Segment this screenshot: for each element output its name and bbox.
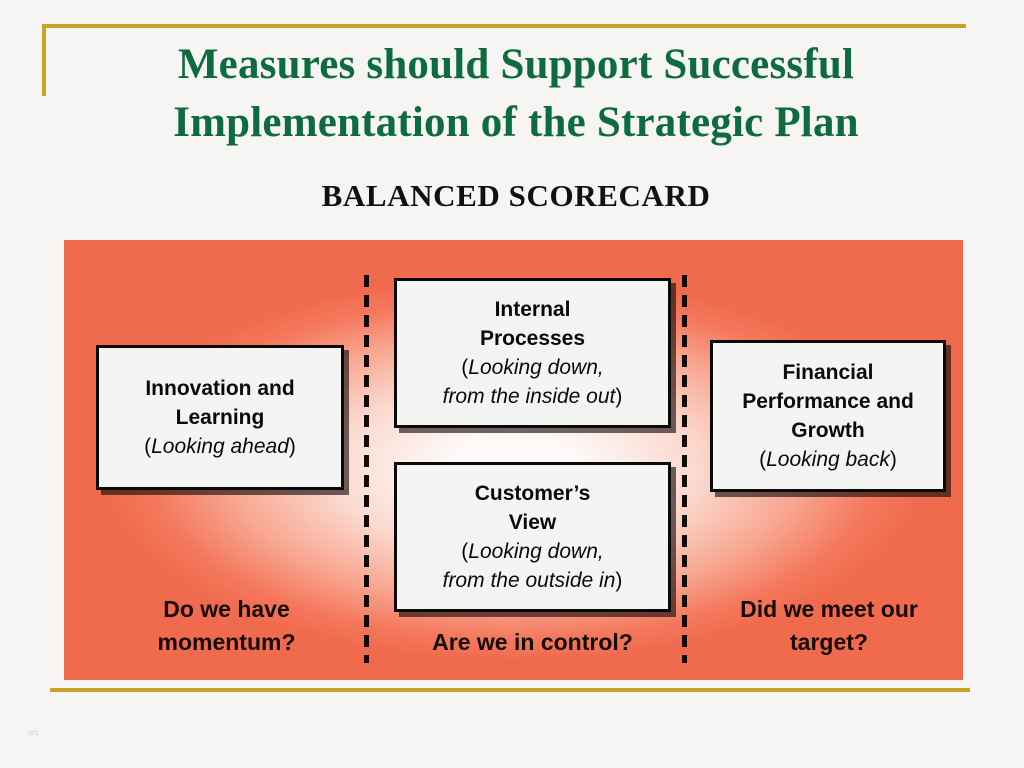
paren-close: ) (289, 435, 296, 458)
corner-artifact: wq (28, 728, 38, 737)
page-title-line-1: Measures should Support Successful (60, 36, 972, 94)
box-customer-heading-line-2: View (509, 508, 556, 537)
paren-close: ) (615, 569, 622, 592)
box-internal-heading-line-1: Internal (495, 295, 571, 324)
box-internal-subtext-line-1: (Looking down, (461, 353, 603, 382)
box-customer-subtext-italic-2: from the outside in (443, 569, 616, 592)
box-financial-heading-line-3: Growth (791, 416, 865, 445)
question-financial: Did we meet our target? (704, 593, 954, 659)
gold-rule-top (42, 24, 966, 28)
paren-close: ) (615, 385, 622, 408)
box-customer-subtext-italic-1: Looking down, (468, 540, 603, 563)
box-customer-subtext-line-1: (Looking down, (461, 537, 603, 566)
box-internal-subtext-italic-1: Looking down, (468, 356, 603, 379)
box-innovation-heading-line-2: Learning (176, 403, 265, 432)
question-financial-line-1: Did we meet our (704, 593, 954, 626)
page-subtitle: BALANCED SCORECARD (60, 178, 972, 214)
page-title: Measures should Support Successful Imple… (60, 36, 972, 152)
box-financial-heading-line-2: Performance and (742, 387, 914, 416)
box-innovation-subtext-italic: Looking ahead (151, 435, 289, 458)
question-innovation: Do we have momentum? (104, 593, 349, 659)
gold-rule-bottom (50, 688, 970, 692)
box-customer-heading-line-1: Customer’s (475, 479, 591, 508)
gold-rule-left (42, 24, 46, 96)
box-innovation-heading-line-1: Innovation and (145, 374, 294, 403)
perspective-box-innovation[interactable]: Innovation and Learning (Looking ahead) (96, 345, 344, 490)
question-internal-customer: Are we in control? (394, 626, 671, 659)
perspective-box-internal-processes[interactable]: Internal Processes (Looking down, from t… (394, 278, 671, 428)
question-financial-line-2: target? (704, 626, 954, 659)
page-title-line-2: Implementation of the Strategic Plan (60, 94, 972, 152)
box-internal-subtext-line-2: from the inside out) (443, 382, 623, 411)
perspective-box-customer-view[interactable]: Customer’s View (Looking down, from the … (394, 462, 671, 612)
box-financial-heading-line-1: Financial (782, 358, 873, 387)
dashed-divider-left (364, 275, 369, 663)
box-financial-subtext: (Looking back) (759, 445, 897, 474)
paren-close: ) (890, 448, 897, 471)
question-innovation-line-2: momentum? (104, 626, 349, 659)
perspective-box-financial-performance[interactable]: Financial Performance and Growth (Lookin… (710, 340, 946, 492)
slide-canvas: Measures should Support Successful Imple… (0, 0, 1024, 768)
box-internal-heading-line-2: Processes (480, 324, 585, 353)
balanced-scorecard-panel: Innovation and Learning (Looking ahead) … (64, 240, 963, 680)
question-innovation-line-1: Do we have (104, 593, 349, 626)
box-innovation-subtext: (Looking ahead) (144, 432, 296, 461)
question-internal-customer-line-1: Are we in control? (394, 626, 671, 659)
box-internal-subtext-italic-2: from the inside out (443, 385, 616, 408)
dashed-divider-right (682, 275, 687, 663)
box-customer-subtext-line-2: from the outside in) (443, 566, 623, 595)
box-financial-subtext-italic: Looking back (766, 448, 890, 471)
